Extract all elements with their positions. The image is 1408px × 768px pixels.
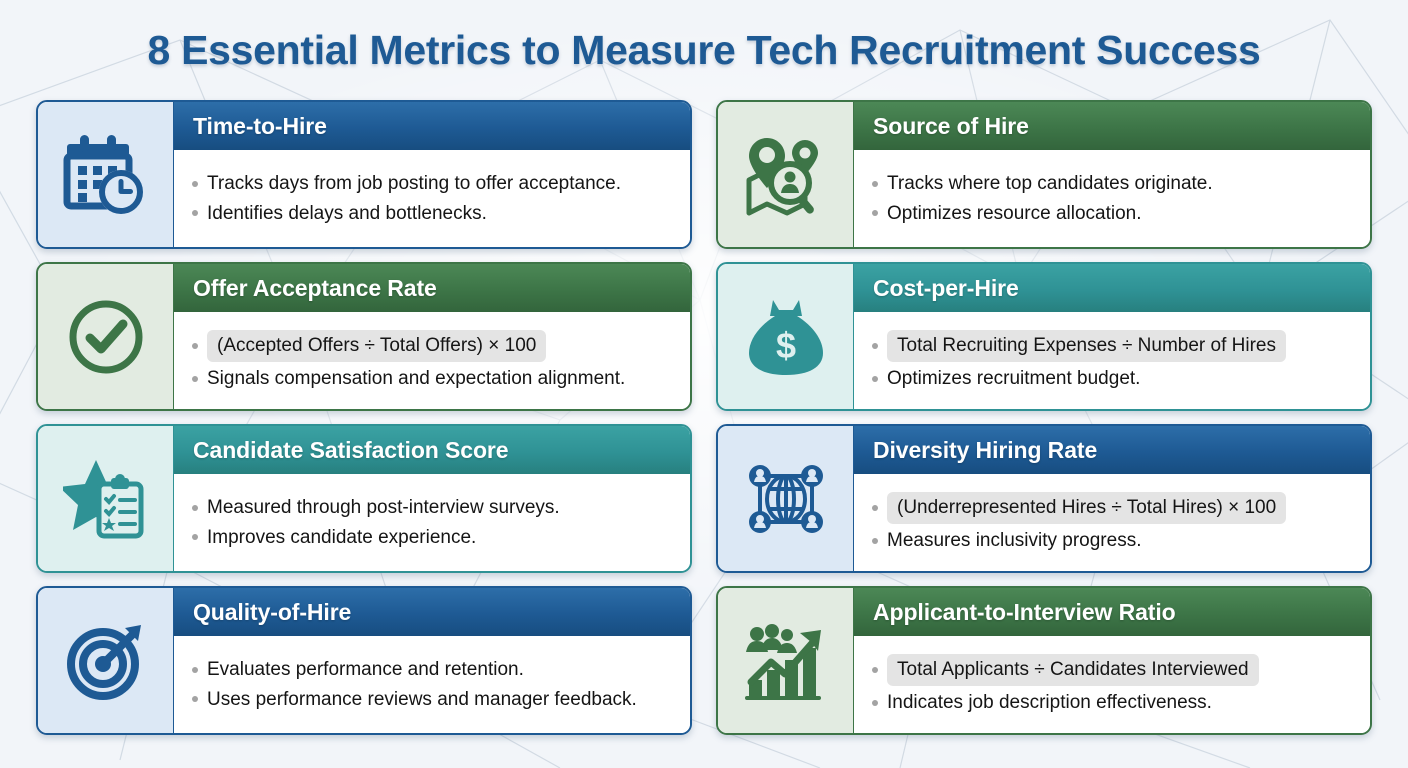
bullet-item-formula: (Accepted Offers ÷ Total Offers) × 100: [192, 330, 678, 362]
bullet-dot-icon: [192, 696, 198, 702]
bullet-text: Indicates job description effectiveness.: [887, 690, 1212, 715]
metric-card-candidate-satisfaction-score[interactable]: Candidate Satisfaction Score Measured th…: [36, 424, 692, 573]
metric-card-diversity-hiring-rate[interactable]: Diversity Hiring Rate (Underrepresented …: [716, 424, 1372, 573]
bullet-text: Improves candidate experience.: [207, 525, 476, 550]
metric-card-offer-acceptance-rate[interactable]: Offer Acceptance Rate (Accepted Offers ÷…: [36, 262, 692, 411]
card-title: Offer Acceptance Rate: [174, 264, 690, 312]
bullet-item-formula: (Underrepresented Hires ÷ Total Hires) ×…: [872, 492, 1358, 524]
card-bullets: Evaluates performance and retention. Use…: [174, 636, 690, 733]
bullet-item-formula: Total Recruiting Expenses ÷ Number of Hi…: [872, 330, 1358, 362]
svg-text:$: $: [775, 325, 795, 366]
metric-card-time-to-hire[interactable]: Time-to-Hire Tracks days from job postin…: [36, 100, 692, 249]
bullet-item: Tracks days from job posting to offer ac…: [192, 171, 678, 196]
bullet-text: Measured through post-interview surveys.: [207, 495, 560, 520]
card-title: Cost-per-Hire: [854, 264, 1370, 312]
bullet-dot-icon: [872, 181, 878, 187]
card-bullets: Measured through post-interview surveys.…: [174, 474, 690, 571]
bullet-dot-icon: [192, 667, 198, 673]
page-title: 8 Essential Metrics to Measure Tech Recr…: [148, 27, 1261, 74]
bullet-item: Tracks where top candidates originate.: [872, 171, 1358, 196]
card-bullets: (Accepted Offers ÷ Total Offers) × 100 S…: [174, 312, 690, 409]
map-pins-search-icon: [743, 134, 829, 216]
bullet-dot-icon: [872, 667, 878, 673]
bullet-item: Optimizes recruitment budget.: [872, 366, 1358, 391]
bullet-dot-icon: [872, 210, 878, 216]
bullet-item: Identifies delays and bottlenecks.: [192, 201, 678, 226]
card-body: Source of Hire Tracks where top candidat…: [854, 102, 1370, 247]
card-body: Time-to-Hire Tracks days from job postin…: [174, 102, 690, 247]
card-title: Diversity Hiring Rate: [854, 426, 1370, 474]
bullet-dot-icon: [872, 343, 878, 349]
card-title: Time-to-Hire: [174, 102, 690, 150]
bullet-item-formula: Total Applicants ÷ Candidates Interviewe…: [872, 654, 1358, 686]
icon-panel: [38, 588, 174, 733]
bullet-item: Measured through post-interview surveys.: [192, 495, 678, 520]
growth-chart-people-icon: [743, 620, 829, 702]
metric-card-cost-per-hire[interactable]: $ Cost-per-Hire Total Recruiting Expense…: [716, 262, 1372, 411]
bullet-text: Identifies delays and bottlenecks.: [207, 201, 487, 226]
card-bullets: Total Recruiting Expenses ÷ Number of Hi…: [854, 312, 1370, 409]
bullet-text: Signals compensation and expectation ali…: [207, 366, 625, 391]
card-body: Candidate Satisfaction Score Measured th…: [174, 426, 690, 571]
bullet-text: Uses performance reviews and manager fee…: [207, 687, 637, 712]
bullet-text: Optimizes resource allocation.: [887, 201, 1142, 226]
card-body: Diversity Hiring Rate (Underrepresented …: [854, 426, 1370, 571]
metric-card-quality-of-hire[interactable]: Quality-of-Hire Evaluates performance an…: [36, 586, 692, 735]
icon-panel: [718, 426, 854, 571]
bullet-text: Measures inclusivity progress.: [887, 528, 1141, 553]
metric-card-applicant-to-interview-ratio[interactable]: Applicant-to-Interview Ratio Total Appli…: [716, 586, 1372, 735]
card-bullets: Tracks days from job posting to offer ac…: [174, 150, 690, 247]
metric-card-source-of-hire[interactable]: Source of Hire Tracks where top candidat…: [716, 100, 1372, 249]
bullet-item: Improves candidate experience.: [192, 525, 678, 550]
icon-panel: [718, 588, 854, 733]
bullet-dot-icon: [192, 376, 198, 382]
bullet-dot-icon: [192, 534, 198, 540]
card-body: Quality-of-Hire Evaluates performance an…: [174, 588, 690, 733]
card-bullets: (Underrepresented Hires ÷ Total Hires) ×…: [854, 474, 1370, 571]
card-body: Applicant-to-Interview Ratio Total Appli…: [854, 588, 1370, 733]
bullet-item: Measures inclusivity progress.: [872, 528, 1358, 553]
card-title: Source of Hire: [854, 102, 1370, 150]
card-body: Cost-per-Hire Total Recruiting Expenses …: [854, 264, 1370, 409]
card-title: Candidate Satisfaction Score: [174, 426, 690, 474]
card-bullets: Total Applicants ÷ Candidates Interviewe…: [854, 636, 1370, 733]
bullet-dot-icon: [872, 700, 878, 706]
bullet-dot-icon: [192, 181, 198, 187]
bullet-item: Optimizes resource allocation.: [872, 201, 1358, 226]
target-arrow-icon: [63, 620, 149, 702]
icon-panel: [718, 102, 854, 247]
bullet-dot-icon: [192, 343, 198, 349]
globe-people-network-icon: [743, 458, 829, 540]
bullet-dot-icon: [872, 505, 878, 511]
icon-panel: [38, 264, 174, 409]
bullet-dot-icon: [872, 538, 878, 544]
card-title: Quality-of-Hire: [174, 588, 690, 636]
bullet-dot-icon: [192, 210, 198, 216]
icon-panel: [38, 426, 174, 571]
formula-text: Total Recruiting Expenses ÷ Number of Hi…: [887, 330, 1286, 362]
bullet-dot-icon: [872, 376, 878, 382]
bullet-text: Evaluates performance and retention.: [207, 657, 524, 682]
money-bag-icon: $: [743, 296, 829, 378]
formula-text: (Underrepresented Hires ÷ Total Hires) ×…: [887, 492, 1286, 524]
card-bullets: Tracks where top candidates originate. O…: [854, 150, 1370, 247]
bullet-text: Tracks where top candidates originate.: [887, 171, 1213, 196]
page-title-container: 8 Essential Metrics to Measure Tech Recr…: [0, 0, 1408, 100]
check-circle-icon: [63, 296, 149, 378]
bullet-item: Signals compensation and expectation ali…: [192, 366, 678, 391]
calendar-clock-icon: [63, 134, 149, 216]
formula-text: (Accepted Offers ÷ Total Offers) × 100: [207, 330, 546, 362]
bullet-item: Evaluates performance and retention.: [192, 657, 678, 682]
bullet-text: Optimizes recruitment budget.: [887, 366, 1140, 391]
icon-panel: [38, 102, 174, 247]
star-clipboard-icon: [63, 458, 149, 540]
metrics-grid: Time-to-Hire Tracks days from job postin…: [0, 100, 1408, 735]
bullet-text: Tracks days from job posting to offer ac…: [207, 171, 621, 196]
bullet-item: Indicates job description effectiveness.: [872, 690, 1358, 715]
infographic-page: 8 Essential Metrics to Measure Tech Recr…: [0, 0, 1408, 768]
bullet-dot-icon: [192, 505, 198, 511]
card-body: Offer Acceptance Rate (Accepted Offers ÷…: [174, 264, 690, 409]
formula-text: Total Applicants ÷ Candidates Interviewe…: [887, 654, 1259, 686]
bullet-item: Uses performance reviews and manager fee…: [192, 687, 678, 712]
card-title: Applicant-to-Interview Ratio: [854, 588, 1370, 636]
icon-panel: $: [718, 264, 854, 409]
